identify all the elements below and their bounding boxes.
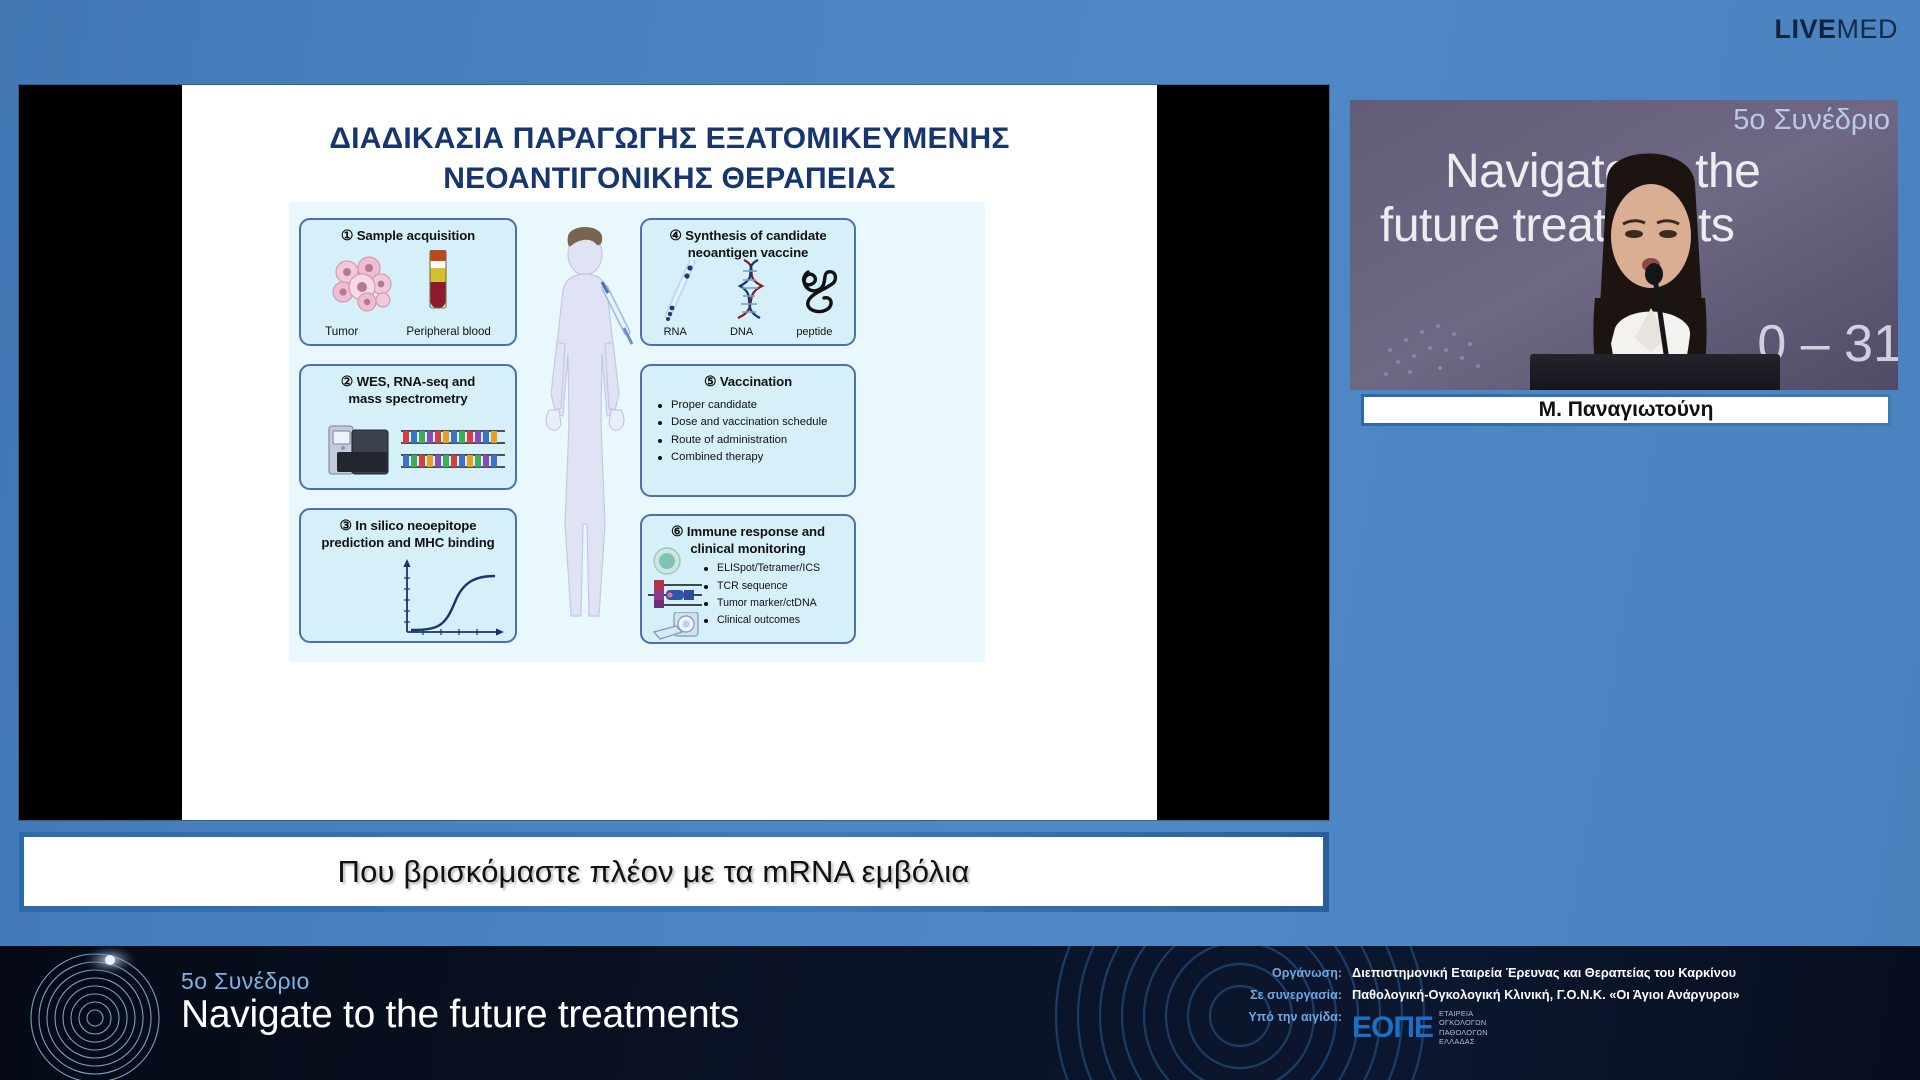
credit-row-collaboration: Σε συνεργασία: Παθολογική-Ογκολογική Κλι… [1246,987,1896,1002]
ct-scanner-icon [652,612,700,640]
rna-strand-icon [660,260,702,322]
workflow-figure: ① Sample acquisition [289,202,985,662]
credit-label: Υπό την αιγίδα: [1246,1009,1352,1024]
panel-4-caption-rna: RNA [664,326,687,338]
slide-title-line2: ΝΕΟΑΝΤΙΓΟΝΙΚΗΣ ΘΕΡΑΠΕΙΑΣ [222,159,1117,199]
list-item: ELISpot/Tetramer/ICS [704,560,854,577]
credit-value: Διεπιστημονική Εταιρεία Έρευνας και Θερα… [1352,965,1736,980]
human-body-icon [535,224,635,640]
list-item: TCR sequence [704,578,854,595]
dna-helix-icon [730,258,772,322]
slide-title: ΔΙΑΔΙΚΑΣΙΑ ΠΑΡΑΓΩΓΗΣ ΕΞΑΤΟΜΙΚΕΥΜΕΝΗΣ ΝΕΟ… [222,119,1117,198]
eope-logo: ΕΟΠΕ ΕΤΑΙΡΕΙΑ ΟΓΚΟΛΟΓΩΝ ΠΑΘΟΛΟΓΩΝ ΕΛΛΑΔΑ… [1352,1009,1488,1046]
panel-sequencing: ② WES, RNA-seq and mass spectrometry [299,364,517,490]
credit-label: Οργάνωση: [1246,965,1352,980]
panel-1-label: Sample acquisition [357,228,475,243]
panel-vaccination: ⑤ Vaccination Proper candidate Dose and … [640,364,856,497]
panel-4-title: ④ Synthesis of candidate neoantigen vacc… [642,220,854,260]
video-backdrop-edition: 5ο Συνέδριο [1733,104,1890,137]
list-item: Route of administration [658,432,854,450]
credit-label: Σε συνεργασία: [1246,987,1352,1002]
conference-logo-icon [10,946,180,1080]
credit-value: Παθολογική-Ογκολογική Κλινική, Γ.Ο.Ν.Κ. … [1352,987,1739,1002]
talk-title-text: Που βρισκόμαστε πλέον με τα mRNA εμβόλια [338,854,970,890]
panel-6-bullets: ELISpot/Tetramer/ICS TCR sequence Tumor … [704,560,854,629]
credit-row-auspices: Υπό την αιγίδα: ΕΟΠΕ ΕΤΑΙΡΕΙΑ ΟΓΚΟΛΟΓΩΝ … [1246,1009,1896,1046]
speaker-name-bar: Μ. Παναγιωτούνη [1361,394,1891,426]
panel-5-number: ⑤ [704,374,716,389]
eope-logo-subtitle: ΕΤΑΙΡΕΙΑ ΟΓΚΟΛΟΓΩΝ ΠΑΘΟΛΟΓΩΝ ΕΛΛΑΔΑΣ [1439,1009,1488,1046]
livemed-logo-light: MED [1837,14,1899,44]
credit-row-organizer: Οργάνωση: Διεπιστημονική Εταιρεία Έρευνα… [1246,965,1896,980]
banner-title-block: 5ο Συνέδριο Navigate to the future treat… [181,968,739,1037]
livemed-logo: LIVEMED [1774,16,1898,43]
panel-1-caption-blood: Peripheral blood [406,325,490,338]
panel-2-title: ② WES, RNA-seq and mass spectrometry [301,366,515,406]
presentation-slide: ΔΙΑΔΙΚΑΣΙΑ ΠΑΡΑΓΩΓΗΣ ΕΞΑΤΟΜΙΚΕΥΜΕΝΗΣ ΝΕΟ… [182,85,1157,820]
podium [1530,354,1780,390]
speaker-portrait [1555,138,1745,390]
human-body-illustration [535,224,635,640]
panel-3-label-line1: In silico neoepitope [355,518,476,533]
sequencer-icon [327,422,391,476]
panel-3-number: ③ [340,518,352,533]
panel-2-label-line2: mass spectrometry [301,391,515,407]
top-bar: LIVEMED [0,0,1920,62]
sigmoid-curve-icon [399,556,507,638]
banner-main-title: Navigate to the future treatments [181,993,739,1037]
bottom-banner: 5ο Συνέδριο Navigate to the future treat… [0,946,1920,1080]
panel-sample-acquisition: ① Sample acquisition [299,218,517,346]
list-item: Clinical outcomes [704,612,854,629]
list-item: Combined therapy [658,449,854,467]
banner-subtitle: 5ο Συνέδριο [181,968,739,995]
elispot-well-icon [652,546,682,576]
panel-vaccine-synthesis: ④ Synthesis of candidate neoantigen vacc… [640,218,856,346]
panel-5-bullets: Proper candidate Dose and vaccination sc… [658,397,854,467]
list-item: Tumor marker/ctDNA [704,595,854,612]
panel-1-caption-tumor: Tumor [325,325,358,338]
panel-4-captions: RNA DNA peptide [642,326,854,338]
livemed-logo-bold: LIVE [1774,14,1836,44]
panel-in-silico-prediction: ③ In silico neoepitope prediction and MH… [299,508,517,643]
panel-4-caption-peptide: peptide [796,326,832,338]
slide-stage[interactable]: ΔΙΑΔΙΚΑΣΙΑ ΠΑΡΑΓΩΓΗΣ ΕΞΑΤΟΜΙΚΕΥΜΕΝΗΣ ΝΕΟ… [19,85,1329,820]
blood-tube-icon [425,250,451,314]
panel-5-title: ⑤ Vaccination [642,366,854,391]
peptide-icon [798,264,842,318]
talk-title-bar: Που βρισκόμαστε πλέον με τα mRNA εμβόλια [19,832,1329,912]
panel-immune-monitoring: ⑥ Immune response and clinical monitorin… [640,514,856,644]
slide-title-line1: ΔΙΑΔΙΚΑΣΙΑ ΠΑΡΑΓΩΓΗΣ ΕΞΑΤΟΜΙΚΕΥΜΕΝΗΣ [222,119,1117,159]
dna-sequence-icon [401,426,505,474]
panel-1-captions: Tumor Peripheral blood [301,325,515,338]
list-item: Proper candidate [658,397,854,415]
panel-4-caption-dna: DNA [730,326,753,338]
panel-4-label-line1: Synthesis of candidate [685,228,826,243]
panel-2-number: ② [341,374,353,389]
tcr-sequence-icon [646,580,704,610]
banner-credits: Οργάνωση: Διεπιστημονική Εταιρεία Έρευνα… [1246,965,1896,1046]
panel-1-title: ① Sample acquisition [301,220,515,245]
talk-title-inner: Που βρισκόμαστε πλέον με τα mRNA εμβόλια [24,837,1323,906]
panel-5-label: Vaccination [720,374,792,389]
panel-3-title: ③ In silico neoepitope prediction and MH… [301,510,515,550]
panel-4-number: ④ [669,228,681,243]
panel-6-number: ⑥ [671,524,683,539]
speaker-name-text: Μ. Παναγιωτούνη [1539,398,1714,422]
panel-2-label-line1: WES, RNA-seq and [357,374,476,389]
speaker-name-inner: Μ. Παναγιωτούνη [1364,397,1888,423]
list-item: Dose and vaccination schedule [658,414,854,432]
eope-logo-mark: ΕΟΠΕ [1352,1013,1433,1043]
panel-1-number: ① [341,228,353,243]
panel-3-label-line2: prediction and MHC binding [301,535,515,551]
speaker-video[interactable]: 5ο Συνέδριο Navigate to the future treat… [1350,100,1898,390]
panel-6-label-line1: Immune response and [687,524,825,539]
tumor-cells-icon [331,254,393,312]
